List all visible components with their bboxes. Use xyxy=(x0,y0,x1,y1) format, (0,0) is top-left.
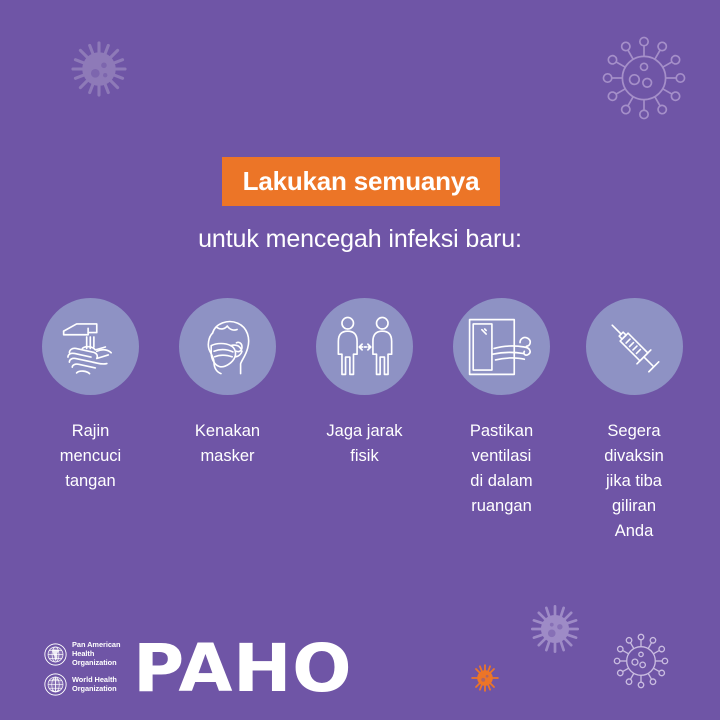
virus-bottom-right-outline-icon xyxy=(608,628,674,694)
measure-label: Pastikan ventilasi di dalam ruangan xyxy=(470,419,533,519)
paho-logo-lockup: Pan American Health Organization xyxy=(44,641,340,696)
measure-label: Kenakan masker xyxy=(195,419,260,469)
measure-icon-circle xyxy=(453,298,550,395)
virus-top-left-icon xyxy=(68,38,130,100)
measure-icon-circle xyxy=(586,298,683,395)
virus-bottom-right-solid-icon xyxy=(528,602,582,656)
measure-icon-circle xyxy=(42,298,139,395)
paho-wordmark: PAHO xyxy=(133,642,352,696)
measure-handwashing: Rajin mencuci tangan xyxy=(22,298,159,494)
face-mask-icon xyxy=(193,312,263,382)
org-line-paho: Pan American Health Organization xyxy=(44,641,120,668)
organization-lockup: Pan American Health Organization xyxy=(44,641,120,696)
who-emblem-icon xyxy=(44,673,67,696)
org-name-who: World Health Organization xyxy=(72,676,117,694)
virus-top-right-icon xyxy=(596,30,692,126)
measure-label: Segera divaksin jika tiba giliran Anda xyxy=(604,419,664,544)
subheadline-text: untuk mencegah infeksi baru: xyxy=(0,225,720,254)
measure-face-mask: Kenakan masker xyxy=(159,298,296,469)
measure-icon-circle xyxy=(316,298,413,395)
paho-emblem-icon xyxy=(44,643,67,666)
measure-ventilation: Pastikan ventilasi di dalam ruangan xyxy=(433,298,570,519)
ventilation-window-icon xyxy=(462,311,542,383)
measure-physical-distancing: Jaga jarak fisik xyxy=(296,298,433,469)
poster-canvas: Lakukan semuanya untuk mencegah infeksi … xyxy=(0,0,720,720)
physical-distancing-icon xyxy=(329,311,401,383)
virus-bottom-center-icon xyxy=(470,663,500,693)
measure-icon-circle xyxy=(179,298,276,395)
measure-label: Rajin mencuci tangan xyxy=(60,419,121,494)
headline-badge: Lakukan semuanya xyxy=(222,157,500,206)
syringe-vaccine-icon xyxy=(599,312,669,382)
measure-vaccination: Segera divaksin jika tiba giliran Anda xyxy=(570,298,698,544)
headline-badge-label: Lakukan semuanya xyxy=(243,166,480,197)
measures-row: Rajin mencuci tangan xyxy=(22,298,698,544)
org-line-who: World Health Organization xyxy=(44,673,120,696)
handwashing-icon xyxy=(55,311,127,383)
measure-label: Jaga jarak fisik xyxy=(326,419,402,469)
org-name-paho: Pan American Health Organization xyxy=(72,641,120,668)
